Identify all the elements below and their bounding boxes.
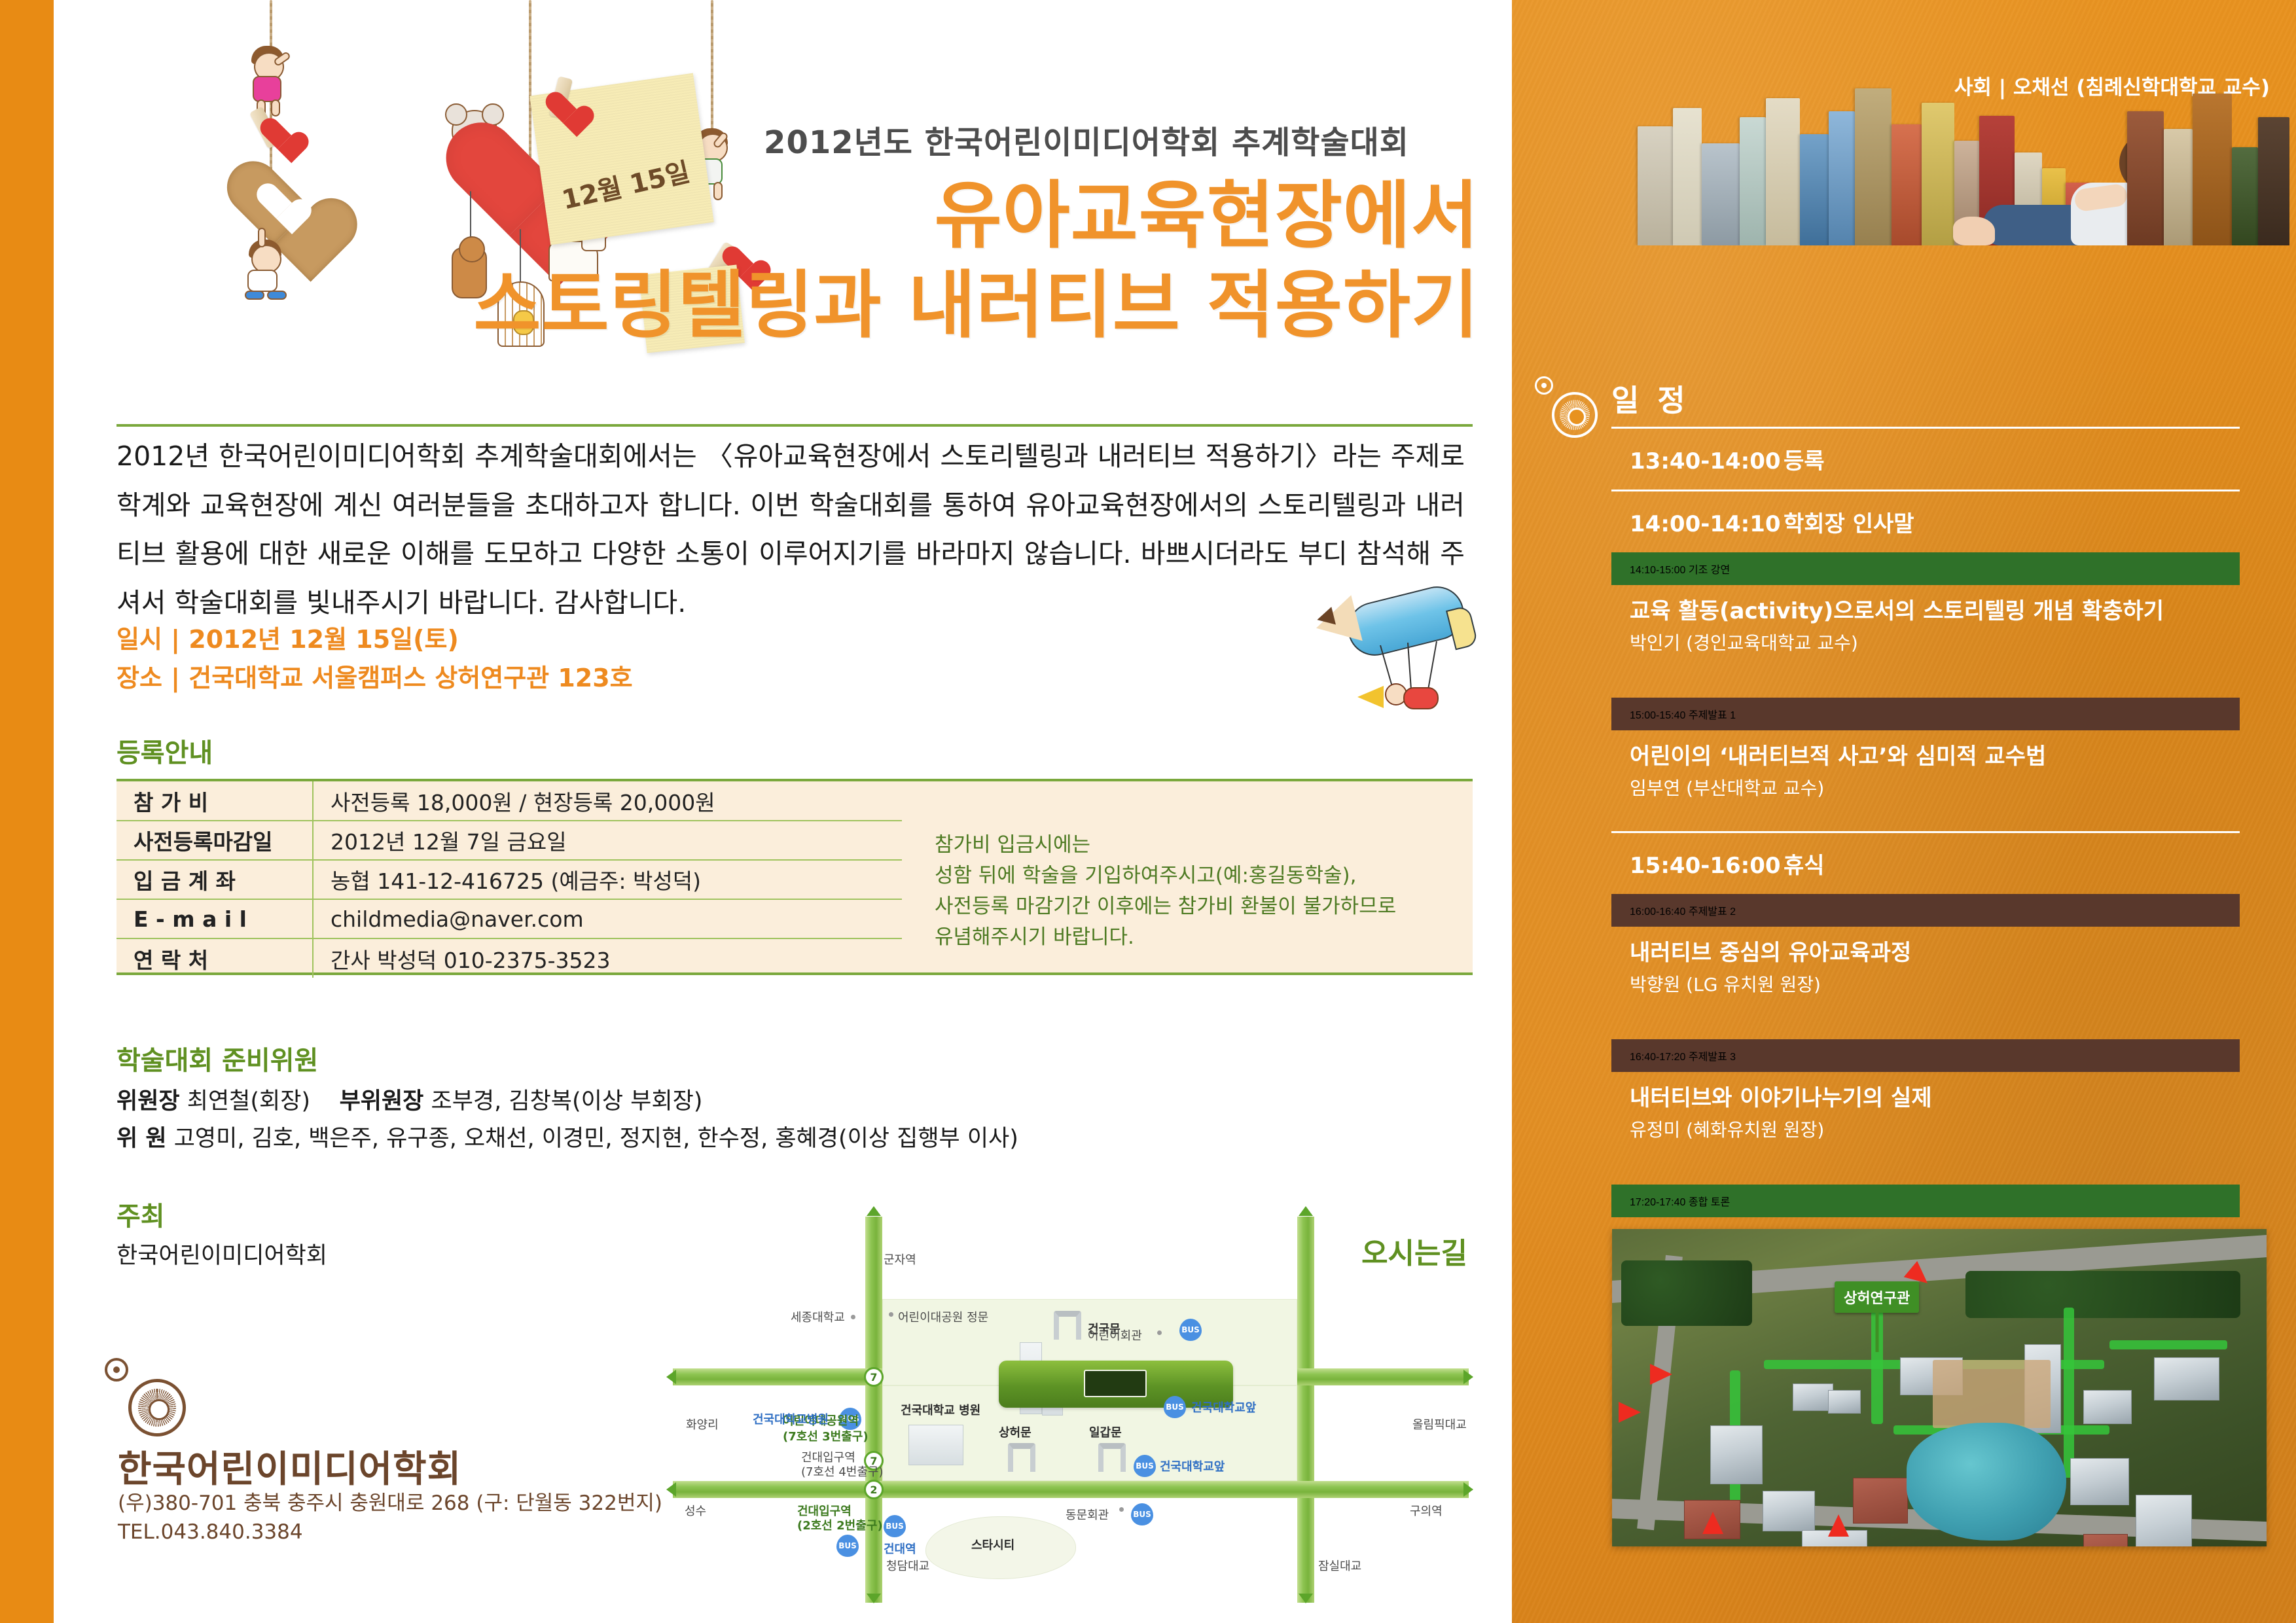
schedule-talk-title: 교육 활동(activity)으로서의 스토리텔링 개념 확충하기	[1630, 597, 2240, 626]
aerial-direction-arrow	[1702, 1512, 1723, 1534]
map-label-seongsu: 성수	[685, 1502, 706, 1519]
logo-small-ring	[105, 1358, 128, 1382]
schedule-item-session2-detail: 내러티브 중심의 유아교육과정 박향원 (LG 유치원 원장)	[1611, 927, 2240, 1001]
aerial-path	[2109, 1340, 2227, 1349]
schedule-session: 등록	[1784, 443, 1825, 475]
book	[1740, 117, 1766, 245]
map-bus-pin: BUS	[836, 1535, 859, 1557]
schedule-heading: 일 정	[1611, 377, 1689, 420]
schedule-logo-big-ring	[1552, 392, 1598, 438]
schedule-time: 16:00-16:40	[1630, 906, 1685, 918]
map-road-horizontal	[673, 1481, 1469, 1498]
page-title-line1: 유아교육현장에서	[301, 171, 1479, 261]
logo-big-ring	[128, 1379, 186, 1436]
aerial-treeline	[1965, 1271, 2240, 1318]
society-contact: (우)380-701 충북 충주시 충원대로 268 (구: 단월동 322번지…	[118, 1489, 662, 1546]
row-value-email[interactable]: childmedia@naver.com	[313, 899, 902, 938]
trumpet-icon	[1357, 686, 1384, 708]
society-name: 한국어린이미디어학회	[118, 1440, 461, 1493]
society-tel: TEL.043.840.3384	[118, 1518, 662, 1546]
pilot-body	[1403, 687, 1439, 709]
map-arrow-right	[1463, 1370, 1473, 1384]
schedule-list: 13:40-14:00 등록 14:00-14:10 학회장 인사말 14:10…	[1611, 427, 2240, 1263]
aerial-building	[2154, 1357, 2219, 1400]
books-and-reader-photo	[1630, 52, 2291, 245]
book	[1673, 108, 1702, 245]
heart-icon	[260, 119, 297, 152]
schedule-session: 주제발표 1	[1689, 710, 1736, 721]
row-value: 2012년 12월 7일 금요일	[313, 821, 902, 860]
aerial-direction-arrow	[1828, 1514, 1849, 1537]
map-poi-dot	[1157, 1330, 1162, 1335]
map-label-kondae-exit-7: (7호선 4번출구)	[801, 1463, 883, 1480]
registration-heading: 등록안내	[117, 732, 213, 770]
aerial-building	[1710, 1425, 1763, 1484]
map-label-childhall: 어린이회관	[1088, 1327, 1142, 1344]
aerial-lake	[1907, 1423, 2066, 1541]
schedule-session: 주제발표 3	[1689, 1052, 1736, 1063]
committee-members-label: 위 원	[117, 1126, 167, 1152]
aerial-building	[1763, 1491, 1815, 1531]
committee-list: 위원장 최연철(회장) 부위원장 조부경, 김창복(이상 부회장) 위 원 고영…	[117, 1083, 1164, 1157]
map-hospital-building	[908, 1425, 963, 1465]
aerial-building	[2070, 1458, 2129, 1505]
map-arrow-up	[1299, 1206, 1313, 1216]
aerial-plaza	[1933, 1360, 2051, 1428]
map-road-vertical	[1297, 1217, 1314, 1603]
committee-members-value: 고영미, 김호, 백은주, 유구종, 오채선, 이경민, 정지현, 한수정, 홍…	[174, 1126, 1018, 1152]
pencil-parachute-illustration	[1301, 582, 1484, 740]
aerial-direction-arrow	[1650, 1364, 1672, 1385]
schedule-time: 16:40-17:20	[1630, 1052, 1685, 1063]
schedule-item-break: 15:40-16:00 휴식	[1611, 833, 2240, 894]
aerial-building	[2136, 1495, 2192, 1546]
event-datetime-block: 일시 | 2012년 12월 15일(토) 장소 | 건국대학교 서울캠퍼스 상…	[117, 620, 633, 698]
row-key: 사전등록마감일	[117, 821, 313, 860]
note-line: 참가비 입금시에는	[935, 830, 1458, 861]
book	[1702, 143, 1740, 245]
child-figure-hanging	[241, 240, 300, 302]
map-arrow-down	[1299, 1594, 1313, 1603]
book	[2193, 94, 2232, 245]
schedule-time: 17:20-17:40	[1630, 1197, 1685, 1208]
committee-chair-row: 위원장 최연철(회장) 부위원장 조부경, 김창복(이상 부회장)	[117, 1083, 1164, 1120]
map-label-kondae-station: 건대역	[884, 1540, 916, 1557]
schedule-session: 휴식	[1784, 847, 1825, 880]
table-row: 입 금 계 좌 농협 141-12-416725 (예금주: 박성덕)	[117, 860, 902, 899]
directions-map: 오시는길 건국문 상허문 일갑문 건국대학교 병원	[661, 1207, 1479, 1616]
map-bus-pin: BUS	[1131, 1503, 1153, 1525]
schedule-item-session2-bar: 16:00-16:40 주제발표 2	[1611, 894, 2240, 927]
map-road-vertical	[865, 1217, 882, 1603]
directions-title: 오시는길	[1361, 1230, 1467, 1272]
poster-root: 12월 15일 2012년도 한국어린이미디어학회 추계학술대회 유아교육현장에…	[0, 0, 2296, 1623]
committee-members-row: 위 원 고영미, 김호, 백은주, 유구종, 오채선, 이경민, 정지현, 한수…	[117, 1120, 1164, 1158]
child-figure-girl	[247, 46, 300, 105]
schedule-time: 15:00-15:40	[1630, 710, 1685, 721]
table-row: 연 락 처 간사 박성덕 010-2375-3523	[117, 938, 902, 978]
schedule-time: 14:00-14:10	[1630, 511, 1781, 537]
map-label-bus-stop-ku-1: 건국대학교앞	[1191, 1399, 1256, 1416]
map-label-ilgap-gate: 일갑문	[1089, 1423, 1122, 1440]
table-row: E - m a i l childmedia@naver.com	[117, 899, 902, 938]
schedule-logo-small-ring	[1535, 376, 1553, 395]
registration-note: 참가비 입금시에는 성함 뒤에 학술을 기입하여주시고(예:홍길동학술), 사전…	[935, 830, 1458, 953]
aerial-building	[1853, 1478, 1908, 1524]
map-label-sejong-univ: 세종대학교	[791, 1308, 845, 1325]
divider-top	[117, 424, 1473, 427]
spacer	[1611, 1147, 2240, 1185]
aerial-treeline	[1621, 1260, 1752, 1326]
schedule-speaker: 박향원 (LG 유치원 원장)	[1630, 972, 2240, 997]
aerial-building	[2083, 1534, 2128, 1546]
book	[1800, 134, 1829, 245]
committee-chair-label: 위원장	[117, 1088, 180, 1115]
schedule-talk-title: 내터티브와 이야기나누기의 실제	[1630, 1084, 2240, 1113]
map-label-gunja-station: 군자역	[884, 1251, 916, 1268]
spacer	[1611, 805, 2240, 831]
schedule-talk-title: 내러티브 중심의 유아교육과정	[1630, 938, 2240, 967]
map-gate-ku	[1054, 1311, 1081, 1340]
reader-foot	[1953, 217, 1995, 245]
committee-chair-value: 최연철(회장)	[187, 1088, 310, 1115]
map-poi-dot	[889, 1312, 893, 1317]
book	[1766, 98, 1800, 245]
schedule-item-greeting: 14:00-14:10 학회장 인사말	[1611, 491, 2240, 552]
note-line: 유념해주시기 바랍니다.	[935, 922, 1458, 953]
schedule-speaker: 박인기 (경인교육대학교 교수)	[1630, 631, 2240, 656]
map-gate-sangheo	[1008, 1443, 1035, 1472]
event-date: 일시 | 2012년 12월 15일(토)	[117, 620, 633, 659]
schedule-talk-title: 어린이의 ‘내러티브적 사고’와 심미적 교수법	[1630, 742, 2240, 771]
map-label-childpark-gate: 어린이대공원 정문	[898, 1308, 988, 1325]
aerial-building	[1828, 1390, 1861, 1414]
schedule-item-keynote-bar: 14:10-15:00 기조 강연	[1611, 552, 2240, 585]
note-line: 성함 뒤에 학술을 기입하여주시고(예:홍길동학술),	[935, 861, 1458, 891]
aerial-building	[1793, 1383, 1833, 1411]
map-subway-line7-pin: 7	[864, 1367, 884, 1387]
book	[1829, 111, 1855, 245]
committee-vice-label: 부위원장	[340, 1088, 424, 1115]
map-bus-pin: BUS	[884, 1515, 906, 1537]
map-bus-pin: BUS	[1164, 1396, 1186, 1418]
map-ku-badge	[1084, 1370, 1147, 1397]
row-key: 참 가 비	[117, 781, 313, 821]
host-value: 한국어린이미디어학회	[117, 1237, 327, 1270]
page-title-line2: 스토링텔링과 내러티브 적용하기	[301, 261, 1479, 351]
map-label-ku-hospital-bus: 건국대학교병원	[753, 1410, 829, 1427]
schedule-session: 기조 강연	[1689, 565, 1730, 576]
table-row: 사전등록마감일 2012년 12월 7일 금요일	[117, 821, 902, 860]
schedule-session: 학회장 인사말	[1784, 506, 1914, 538]
parachute-cord	[1427, 641, 1437, 693]
schedule-speaker: 임부연 (부산대학교 교수)	[1630, 776, 2240, 801]
map-label-starcity: 스타시티	[971, 1536, 1014, 1553]
event-place: 장소 | 건국대학교 서울캠퍼스 상허연구관 123호	[117, 659, 633, 698]
map-poi-dot	[1119, 1507, 1124, 1512]
map-label-bus-stop-ku-2: 건국대학교앞	[1160, 1457, 1225, 1474]
map-label-olympic-bridge: 올림픽대교	[1412, 1416, 1467, 1433]
book	[2164, 129, 2193, 245]
map-arrow-up	[867, 1206, 881, 1216]
aerial-building	[2083, 1390, 2132, 1424]
row-key: 입 금 계 좌	[117, 860, 313, 899]
map-label-hwayangri: 화양리	[686, 1416, 719, 1433]
schedule-item-session3-detail: 내터티브와 이야기나누기의 실제 유정미 (혜화유치원 원장)	[1611, 1072, 2240, 1147]
book	[2127, 111, 2164, 245]
book	[1922, 103, 1954, 245]
conference-kicker: 2012년도 한국어린이미디어학회 추계학술대회	[700, 116, 1473, 162]
society-logo-icon	[105, 1358, 183, 1436]
row-value: 농협 141-12-416725 (예금주: 박성덕)	[313, 860, 902, 899]
row-value: 간사 박성덕 010-2375-3523	[313, 938, 902, 978]
row-value: 사전등록 18,000원 / 현장등록 20,000원	[313, 781, 902, 821]
committee-heading: 학술대회 준비위원	[117, 1039, 318, 1077]
schedule-item-session3-bar: 16:40-17:20 주제발표 3	[1611, 1039, 2240, 1072]
map-label-dongmun-hall: 동문회관	[1066, 1506, 1109, 1523]
map-label-kondae-exit-2: (2호선 2번출구)	[797, 1516, 883, 1533]
map-label-hospital: 건국대학교 병원	[901, 1401, 980, 1418]
map-arrow-right	[1463, 1482, 1473, 1497]
schedule-item-discussion-bar: 17:20-17:40 종합 토론	[1611, 1185, 2240, 1217]
map-bus-pin: BUS	[1179, 1319, 1202, 1341]
campus-aerial-photo: 상허연구관	[1612, 1229, 2267, 1546]
map-label-childpark-exit: (7호선 3번출구)	[783, 1427, 869, 1444]
society-address: (우)380-701 충북 충주시 충원대로 268 (구: 단월동 322번지…	[118, 1489, 662, 1518]
schedule-item-registration: 13:40-14:00 등록	[1611, 429, 2240, 490]
map-gate-ilgap	[1098, 1443, 1126, 1472]
intro-paragraph: 2012년 한국어린이미디어학회 추계학술대회에서는 〈유아교육현장에서 스토리…	[117, 432, 1465, 627]
schedule-time: 14:10-15:00	[1630, 565, 1685, 576]
registration-table: 참 가 비 사전등록 18,000원 / 현장등록 20,000원 사전등록마감…	[117, 781, 902, 978]
left-accent-strip	[0, 0, 54, 1623]
map-label-cheongdam-bridge: 청담대교	[886, 1557, 929, 1574]
heart-icon	[546, 93, 580, 123]
schedule-time: 15:40-16:00	[1630, 853, 1781, 879]
book	[1855, 88, 1892, 245]
schedule-speaker: 유정미 (혜화유치원 원장)	[1630, 1118, 2240, 1143]
page-title: 유아교육현장에서 스토링텔링과 내러티브 적용하기	[301, 171, 1479, 350]
aerial-direction-arrow	[1619, 1402, 1641, 1423]
map-arrow-left	[666, 1482, 676, 1497]
schedule-logo-icon	[1535, 376, 1598, 439]
wooden-heart-hole	[258, 185, 298, 223]
map-label-sangheo-gate: 상허문	[999, 1423, 1031, 1440]
spacer	[1611, 1001, 2240, 1039]
book	[1892, 124, 1922, 245]
map-bus-pin: BUS	[1134, 1455, 1156, 1477]
schedule-session: 주제발표 2	[1689, 906, 1736, 918]
committee-vice-value: 조부경, 김창복(이상 부회장)	[431, 1088, 703, 1115]
pencil-eraser	[1446, 605, 1479, 651]
map-subway-line2-pin: 2	[864, 1480, 884, 1499]
row-key: E - m a i l	[117, 899, 313, 938]
aerial-path	[2064, 1308, 2074, 1478]
host-heading: 주최	[117, 1195, 165, 1233]
map-arrow-left	[666, 1370, 676, 1384]
book	[2258, 117, 2289, 245]
schedule-time: 13:40-14:00	[1630, 448, 1781, 474]
registration-info-box: 참 가 비 사전등록 18,000원 / 현장등록 20,000원 사전등록마감…	[117, 779, 1473, 975]
schedule-item-session1-bar: 15:00-15:40 주제발표 1	[1611, 698, 2240, 730]
schedule-session: 종합 토론	[1689, 1197, 1730, 1208]
map-label-jamsil-bridge: 잠실대교	[1318, 1557, 1361, 1574]
schedule-item-keynote-detail: 교육 활동(activity)으로서의 스토리텔링 개념 확충하기 박인기 (경…	[1611, 585, 2240, 660]
row-key: 연 락 처	[117, 938, 313, 978]
book	[1638, 126, 1673, 245]
aerial-venue-tag: 상허연구관	[1835, 1281, 1919, 1313]
schedule-item-session1-detail: 어린이의 ‘내러티브적 사고’와 심미적 교수법 임부연 (부산대학교 교수)	[1611, 730, 2240, 805]
spacer	[1611, 660, 2240, 698]
map-label-guui-station: 구의역	[1410, 1502, 1443, 1519]
map-poi-dot	[851, 1315, 855, 1319]
table-row: 참 가 비 사전등록 18,000원 / 현장등록 20,000원	[117, 781, 902, 821]
note-line: 사전등록 마감기간 이후에는 참가비 환불이 불가하므로	[935, 891, 1458, 922]
book	[2232, 147, 2258, 245]
map-arrow-down	[867, 1594, 881, 1603]
